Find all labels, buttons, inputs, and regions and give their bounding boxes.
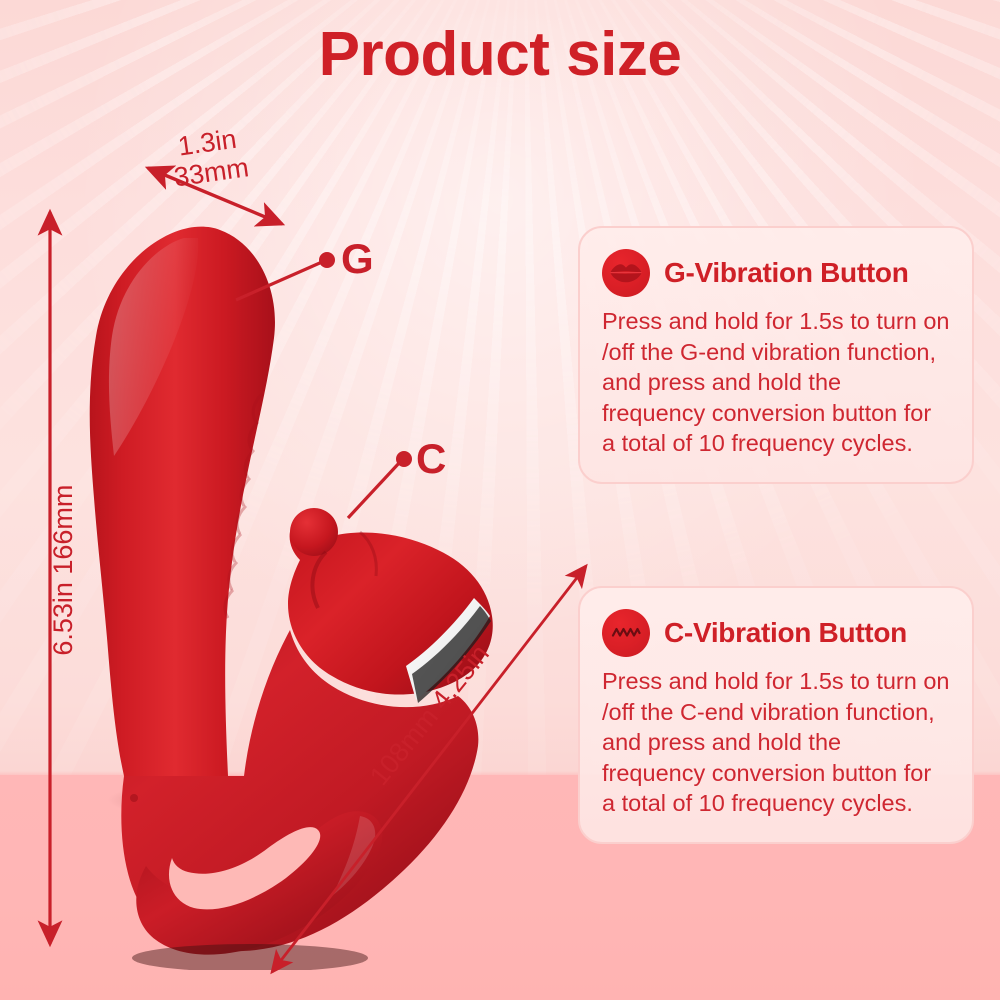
wave-icon	[602, 609, 650, 657]
c-button-nub	[290, 508, 338, 556]
ring-floor-shadow	[132, 944, 368, 970]
card-header: G-Vibration Button	[602, 246, 950, 300]
product-size-infographic: Product size	[0, 0, 1000, 1000]
dimension-label-left: 6.53in 166mm	[48, 455, 78, 685]
card-header: C-Vibration Button	[602, 606, 950, 660]
dimension-label-top: 1.3in 33mm	[168, 123, 251, 193]
info-card-c-vibration: C-Vibration Button Press and hold for 1.…	[578, 586, 974, 844]
card-title: G-Vibration Button	[664, 257, 909, 289]
card-title: C-Vibration Button	[664, 617, 907, 649]
callout-label-c: C	[416, 438, 446, 480]
card-body: Press and hold for 1.5s to turn on /off …	[602, 666, 950, 819]
info-card-g-vibration: G-Vibration Button Press and hold for 1.…	[578, 226, 974, 484]
body-seam-dot	[130, 794, 138, 802]
page-title: Product size	[0, 22, 1000, 87]
callout-label-g: G	[341, 238, 374, 280]
card-body: Press and hold for 1.5s to turn on /off …	[602, 306, 950, 459]
product-illustration	[60, 180, 560, 970]
lips-icon	[602, 249, 650, 297]
